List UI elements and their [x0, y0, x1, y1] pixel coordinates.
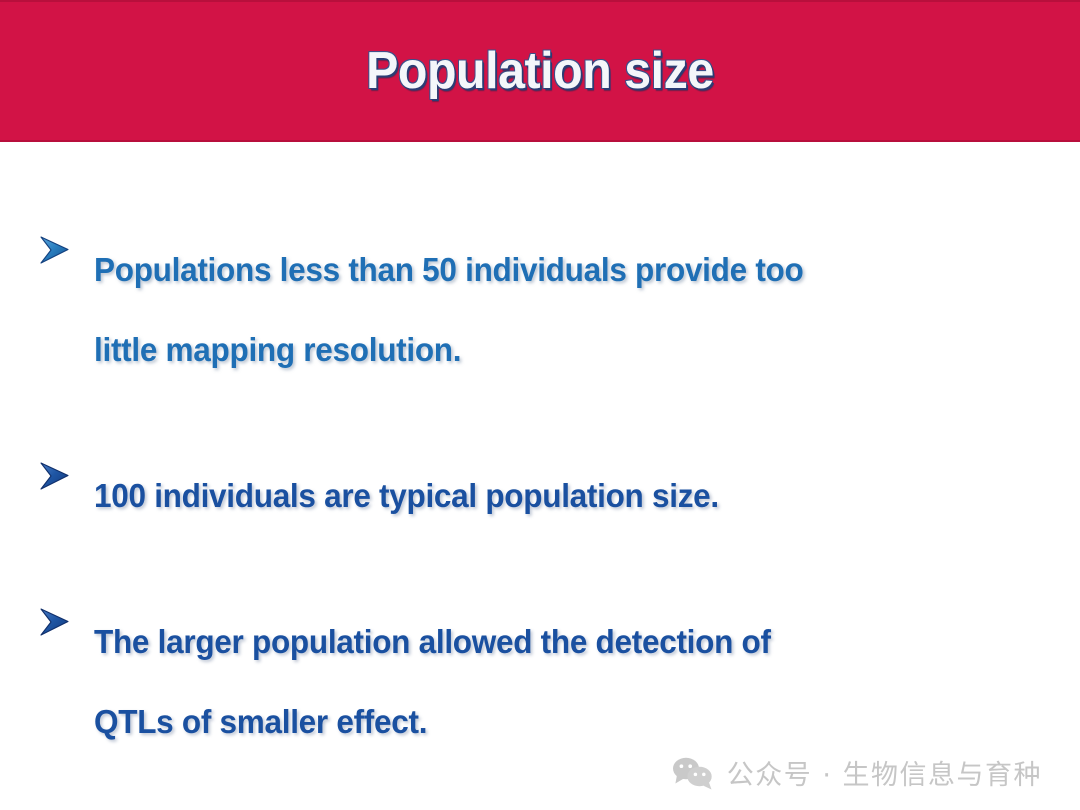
slide-body: Populations less than 50 individuals pro…	[0, 142, 1080, 810]
list-item: 100 individuals are typical population s…	[38, 456, 1048, 536]
slide-title-band: Population size	[0, 0, 1080, 142]
wechat-logo-icon	[671, 756, 715, 790]
list-item-label: Populations less than 50 individuals pro…	[94, 230, 1005, 390]
arrowhead-bullet-icon	[38, 456, 94, 492]
slide: Population size	[0, 0, 1080, 810]
arrowhead-bullet-icon	[38, 602, 94, 638]
list-item-label: 100 individuals are typical population s…	[94, 456, 1005, 536]
watermark: 公众号 · 生物信息与育种	[671, 753, 1042, 792]
list-item: The larger population allowed the detect…	[38, 602, 1048, 762]
bullet-list: Populations less than 50 individuals pro…	[38, 230, 1048, 762]
page-title: Population size	[366, 41, 714, 101]
list-item: Populations less than 50 individuals pro…	[38, 230, 1048, 390]
watermark-label: 公众号 · 生物信息与育种	[727, 753, 1042, 792]
list-item-label: The larger population allowed the detect…	[94, 602, 1005, 762]
arrowhead-bullet-icon	[38, 230, 94, 266]
